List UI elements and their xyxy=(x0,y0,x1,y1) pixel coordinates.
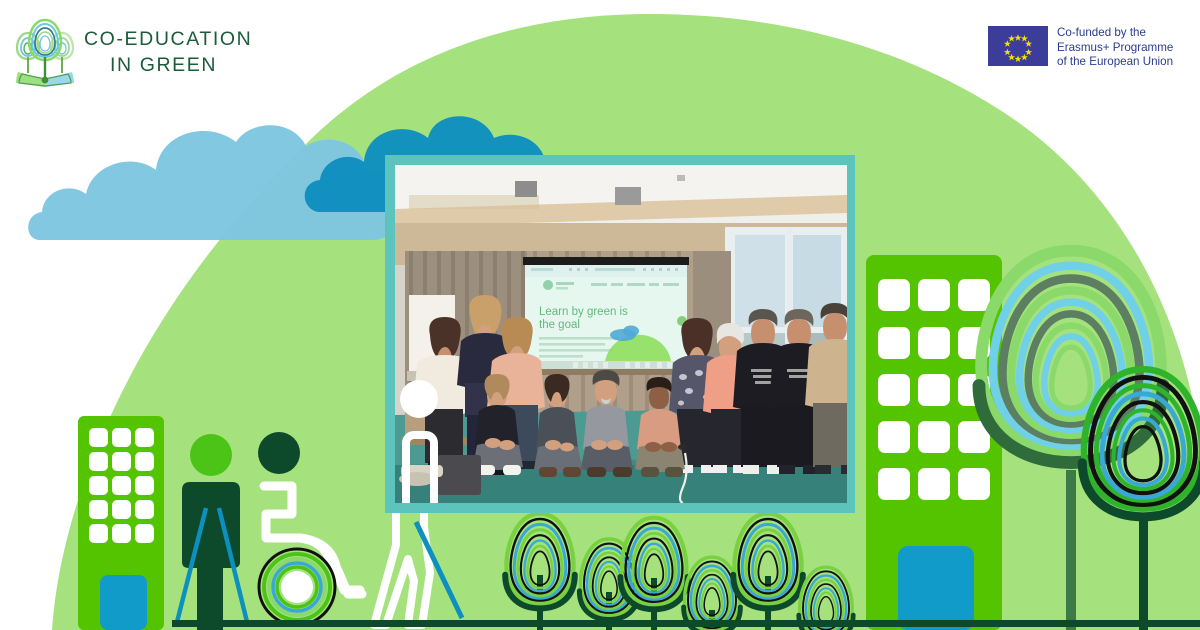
head-icon xyxy=(190,434,232,476)
eu-badge-text: Co-funded by the Erasmus+ Programme of t… xyxy=(1057,26,1173,70)
book-with-trees-icon xyxy=(14,17,76,89)
poster-canvas: CO-EDUCATION IN GREEN Co-funded by the E… xyxy=(0,0,1200,630)
left-building xyxy=(78,416,164,630)
brand-logo: CO-EDUCATION IN GREEN xyxy=(14,12,354,94)
slide-heading-line-2: the goal xyxy=(539,319,580,331)
group-photo: Learn by green is the goal xyxy=(395,165,847,503)
logo-line-2: IN GREEN xyxy=(84,53,252,79)
figure-head-overlay-circle xyxy=(400,380,438,418)
group-photo-frame: Learn by green is the goal xyxy=(385,155,855,513)
eu-text-line-1: Co-funded by the xyxy=(1057,26,1173,41)
right-building xyxy=(866,255,1002,630)
eu-text-line-2: Erasmus+ Programme xyxy=(1057,41,1173,56)
group-photo-illustration: Learn by green is the goal xyxy=(395,165,847,503)
brand-logo-text: CO-EDUCATION IN GREEN xyxy=(84,27,252,78)
figure-body-overlay-outline xyxy=(402,431,438,503)
slide-heading-line-1: Learn by green is xyxy=(539,306,628,318)
logo-line-1: CO-EDUCATION xyxy=(84,28,252,50)
head-icon xyxy=(258,432,300,474)
eu-text-line-3: of the European Union xyxy=(1057,55,1173,70)
eu-flag-icon xyxy=(988,26,1048,66)
eu-cofunding-badge: Co-funded by the Erasmus+ Programme of t… xyxy=(988,26,1173,70)
ground-line xyxy=(172,620,1200,627)
